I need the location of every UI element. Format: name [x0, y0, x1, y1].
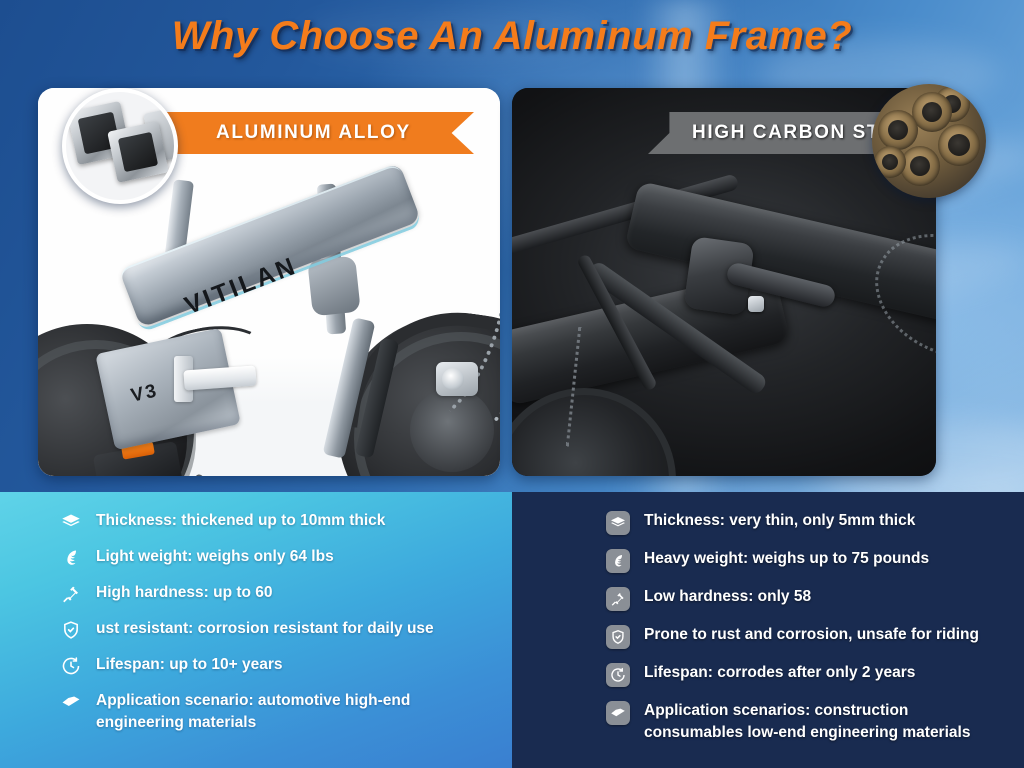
aluminum-tube — [107, 121, 169, 183]
steel-pipe — [900, 146, 940, 186]
round-steel-pipes-icon — [872, 84, 986, 198]
clock-icon — [606, 663, 630, 687]
aluminum-alloy-label: ALUMINUM ALLOY — [216, 122, 411, 144]
aluminum-benefits-list: Thickness: thickened up to 10mm thick Li… — [0, 492, 512, 747]
list-item: Heavy weight: weighs up to 75 pounds — [512, 548, 1024, 573]
steel-pipe — [874, 146, 906, 178]
list-item: Application scenarios: construction cons… — [512, 700, 1024, 744]
list-item: Thickness: thickened up to 10mm thick — [0, 510, 512, 533]
square-aluminum-tubes-icon — [62, 88, 178, 204]
list-item: High hardness: up to 60 — [0, 582, 512, 605]
list-item-text: Low hardness: only 58 — [644, 586, 811, 608]
infographic-canvas: Why Choose An Aluminum Frame? VITILAN — [0, 0, 1024, 768]
steel-pipe — [912, 92, 952, 132]
list-item: Lifespan: corrodes after only 2 years — [512, 662, 1024, 687]
headlight — [436, 362, 478, 396]
list-item-text: Thickness: very thin, only 5mm thick — [644, 510, 915, 532]
list-item: Low hardness: only 58 — [512, 586, 1024, 611]
feather-icon — [606, 549, 630, 573]
clock-icon — [60, 655, 82, 677]
list-item-text: Thickness: thickened up to 10mm thick — [96, 510, 385, 532]
list-item-text: Application scenario: automotive high-en… — [96, 690, 494, 734]
list-item-text: Application scenarios: construction cons… — [644, 700, 1002, 744]
hammer-icon — [60, 583, 82, 605]
list-item-text: High hardness: up to 60 — [96, 582, 273, 604]
aluminum-alloy-ribbon: ALUMINUM ALLOY — [154, 112, 474, 154]
aluminum-tube-highlight — [118, 163, 422, 333]
steel-pipe — [938, 124, 980, 166]
diamond-icon — [60, 691, 82, 713]
layers-icon — [60, 511, 82, 533]
list-item: Application scenario: automotive high-en… — [0, 690, 512, 734]
list-item-text: Light weight: weighs only 64 lbs — [96, 546, 334, 568]
steel-pipe — [878, 110, 918, 150]
hinge-bolt — [748, 296, 764, 312]
steel-drawbacks-list: Thickness: very thin, only 5mm thick Hea… — [512, 492, 1024, 757]
list-item: Lifespan: up to 10+ years — [0, 654, 512, 677]
list-item-text: Lifespan: up to 10+ years — [96, 654, 283, 676]
steel-drawbacks-panel: Thickness: very thin, only 5mm thick Hea… — [512, 492, 1024, 768]
list-item-text: Lifespan: corrodes after only 2 years — [644, 662, 915, 684]
hammer-icon — [606, 587, 630, 611]
aluminum-benefits-panel: Thickness: thickened up to 10mm thick Li… — [0, 492, 512, 768]
diamond-icon — [606, 701, 630, 725]
feather-icon — [60, 547, 82, 569]
list-item-text: Prone to rust and corrosion, unsafe for … — [644, 624, 979, 646]
layers-icon — [606, 511, 630, 535]
list-item-text: Heavy weight: weighs up to 75 pounds — [644, 548, 929, 570]
page-title: Why Choose An Aluminum Frame? — [0, 14, 1024, 59]
list-item: Prone to rust and corrosion, unsafe for … — [512, 624, 1024, 649]
list-item: Thickness: very thin, only 5mm thick — [512, 510, 1024, 535]
list-item: Light weight: weighs only 64 lbs — [0, 546, 512, 569]
list-item-text: ust resistant: corrosion resistant for d… — [96, 618, 434, 640]
shield-icon — [606, 625, 630, 649]
shield-icon — [60, 619, 82, 641]
list-item: ust resistant: corrosion resistant for d… — [0, 618, 512, 641]
